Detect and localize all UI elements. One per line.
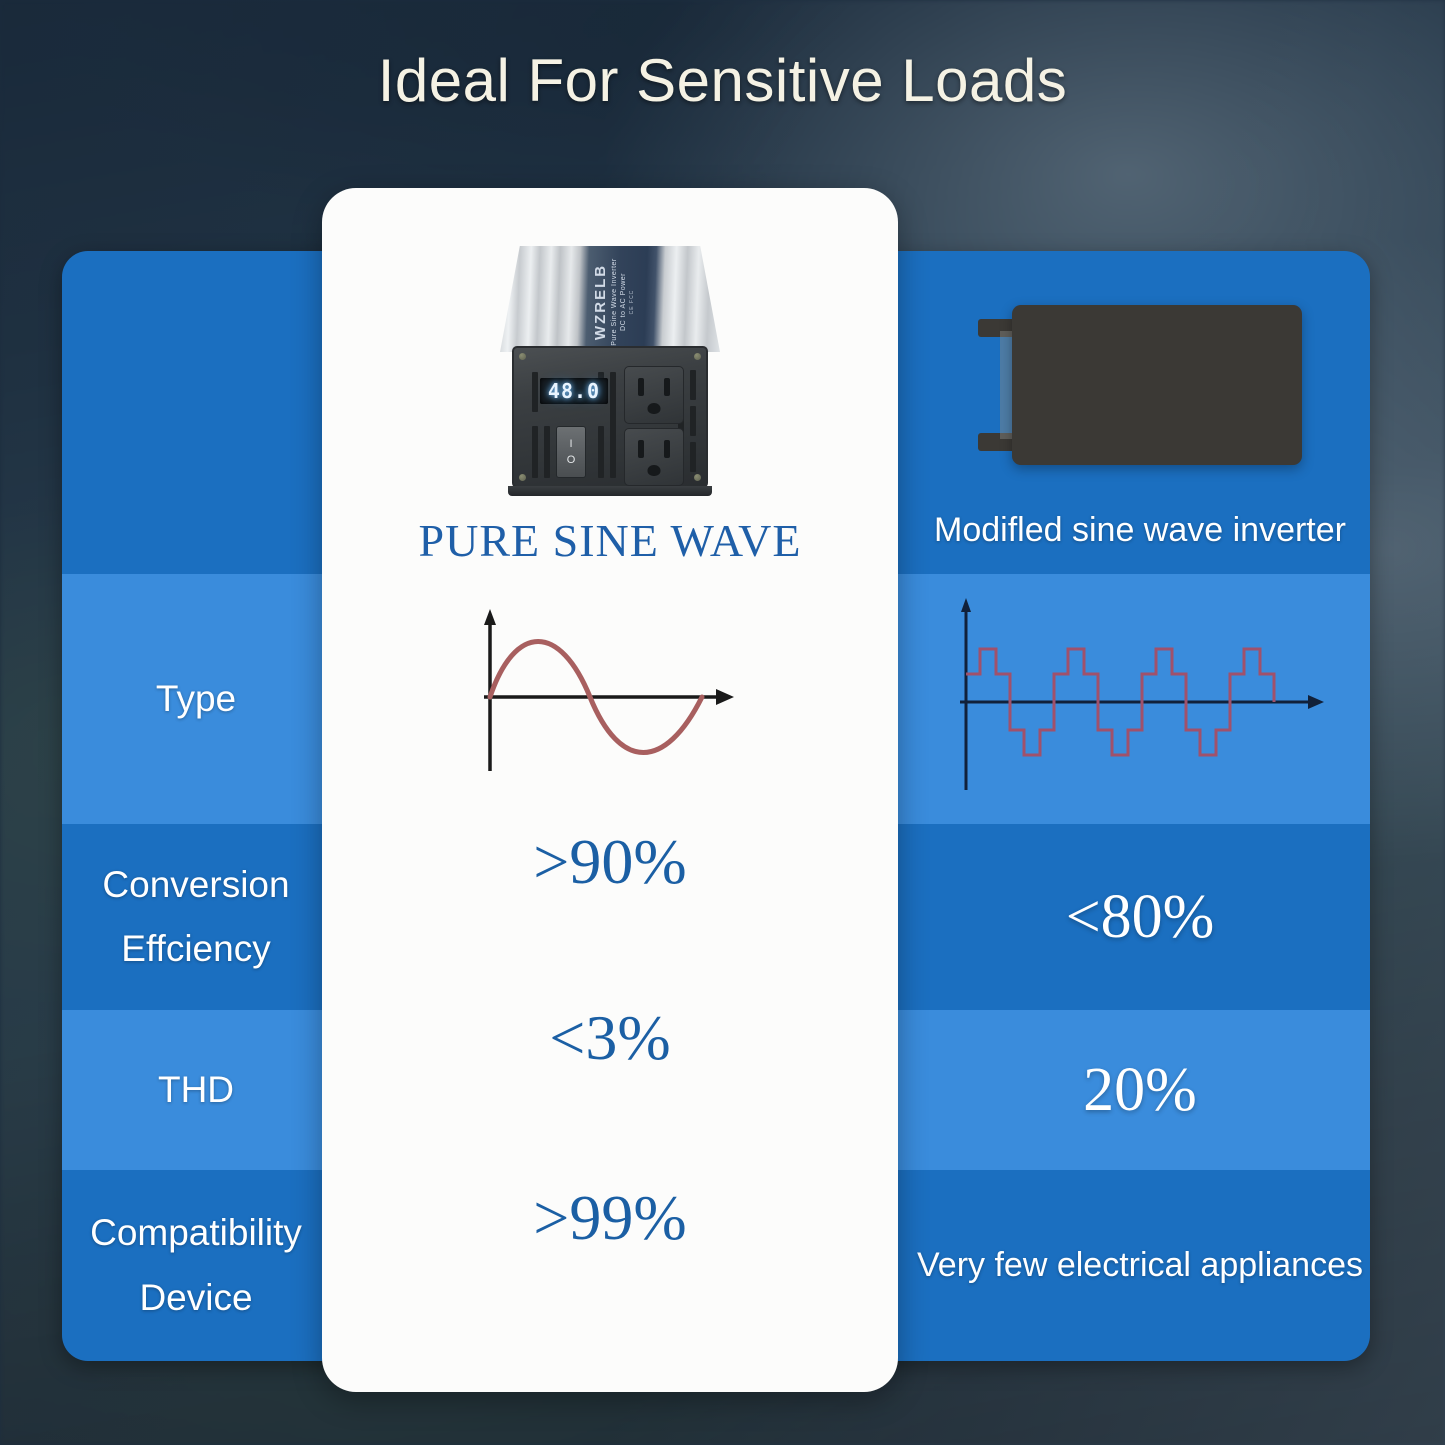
outlet-ground-pin xyxy=(648,403,661,414)
row-label-compatibility-line2: Device xyxy=(139,1266,252,1330)
compatibility-modified-cell: Very few electrical appliances xyxy=(910,1170,1370,1361)
compatibility-modified-value: Very few electrical appliances xyxy=(917,1246,1363,1285)
pure-inverter-brand-sub: Pure Sine Wave Inverter xyxy=(611,258,618,346)
conversion-modified-value: <80% xyxy=(1066,882,1215,953)
row-label-thd: THD xyxy=(62,1010,330,1170)
power-switch-off-marking: O xyxy=(567,455,576,466)
row-label-conversion-efficiency: Conversion Effciency xyxy=(62,824,330,1010)
row-label-type: Type xyxy=(62,574,330,824)
row-label-conversion-line2: Effciency xyxy=(121,917,270,981)
pure-compatibility-value: >99% xyxy=(322,1181,898,1255)
power-switch[interactable]: I O xyxy=(556,426,586,478)
pure-inverter-brand-cert: CE FCC xyxy=(629,290,635,315)
vent-slot xyxy=(690,406,696,436)
pure-sine-waveform-chart xyxy=(460,601,760,791)
faceplate-screw-bottom-left xyxy=(519,474,526,481)
header-modified-cell: Modifled sine wave inverter xyxy=(910,251,1370,574)
modified-inverter-body xyxy=(1012,305,1302,465)
pure-inverter-brand-model: DC to AC Power xyxy=(620,273,627,331)
modified-waveform-svg xyxy=(940,594,1340,804)
pure-sine-wave-heading: PURE SINE WAVE xyxy=(419,514,802,567)
row-label-compatibility: Compatibility Device xyxy=(62,1170,330,1361)
ac-outlet-upper xyxy=(624,366,684,424)
row-label-thd-text: THD xyxy=(158,1058,234,1122)
pure-conversion-efficiency-value: >90% xyxy=(322,825,898,899)
vent-slot xyxy=(532,426,538,478)
modified-inverter-image xyxy=(978,305,1302,465)
outlet-slot-right xyxy=(664,378,670,396)
voltage-display-value: 48.0 xyxy=(548,379,600,403)
ac-outlet-lower xyxy=(624,428,684,486)
pure-inverter-brand-name: WZRELB xyxy=(592,264,609,340)
outlet-slot-left xyxy=(638,378,644,396)
pure-inverter-image: WZRELB Pure Sine Wave Inverter DC to AC … xyxy=(492,246,728,502)
outlet-slot-right xyxy=(664,440,670,458)
pure-inverter-brand-label: WZRELB Pure Sine Wave Inverter DC to AC … xyxy=(571,255,655,349)
pure-sine-wave-card: WZRELB Pure Sine Wave Inverter DC to AC … xyxy=(322,188,898,1392)
row-label-compatibility-line1: Compatibility xyxy=(90,1201,302,1265)
thd-modified-value: 20% xyxy=(1083,1055,1197,1126)
row-label-type-text: Type xyxy=(156,667,236,731)
vent-slot xyxy=(532,372,538,412)
thd-modified-cell: 20% xyxy=(910,1010,1370,1170)
power-switch-on-marking: I xyxy=(569,439,572,450)
row-label-conversion-line1: Conversion xyxy=(102,853,289,917)
page-title: Ideal For Sensitive Loads xyxy=(0,46,1445,115)
faceplate-screw-top-right xyxy=(694,353,701,360)
vent-slot xyxy=(690,370,696,400)
pure-inverter-faceplate: 48.0 I O xyxy=(512,346,708,488)
header-label-cell xyxy=(62,251,330,574)
vent-slot xyxy=(610,372,616,478)
faceplate-screw-bottom-right xyxy=(694,474,701,481)
modified-sine-waveform-chart xyxy=(910,574,1370,824)
pure-thd-value: <3% xyxy=(322,1001,898,1075)
voltage-display: 48.0 xyxy=(540,378,608,404)
vent-slot xyxy=(690,442,696,472)
faceplate-screw-top-left xyxy=(519,353,526,360)
vent-slot xyxy=(598,426,604,478)
pure-inverter-base xyxy=(508,486,712,496)
modified-inverter-heading: Modifled sine wave inverter xyxy=(910,511,1370,550)
pure-waveform-svg xyxy=(460,601,760,791)
type-modified-cell xyxy=(910,574,1370,824)
conversion-modified-cell: <80% xyxy=(910,824,1370,1010)
outlet-ground-pin xyxy=(648,465,661,476)
vent-slot xyxy=(544,426,550,478)
outlet-slot-left xyxy=(638,440,644,458)
